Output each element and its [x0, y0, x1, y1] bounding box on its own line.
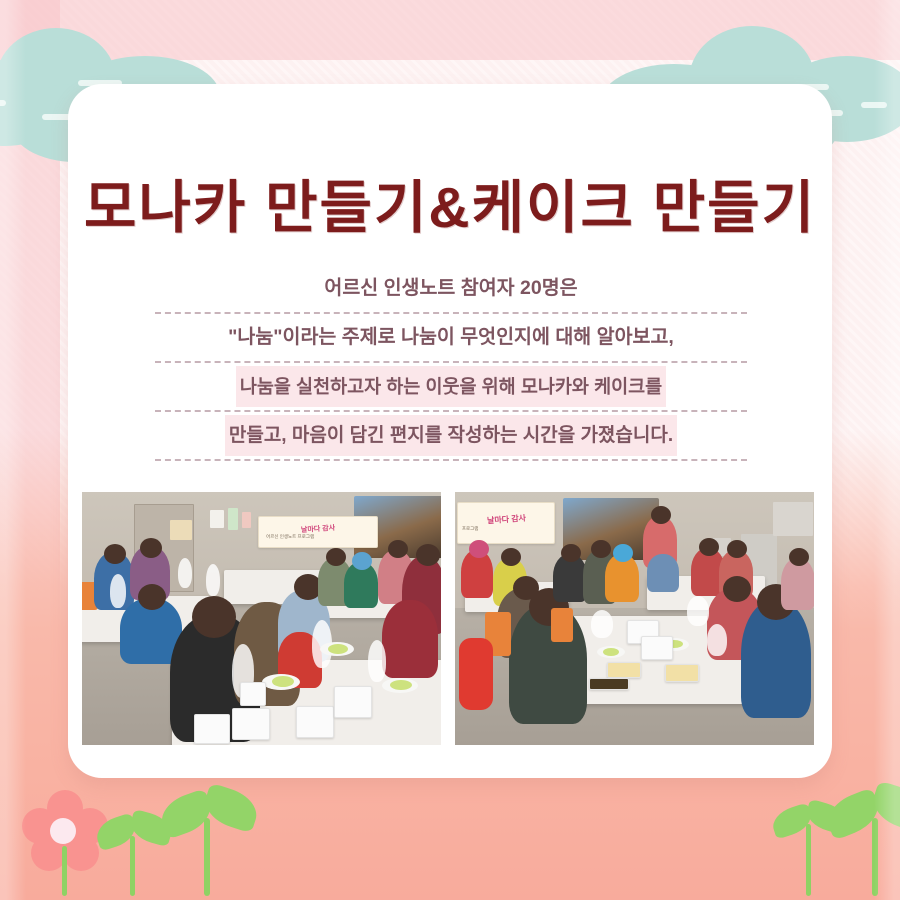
- photo-gallery: 날마다 감사 어르신 인생노트 프로그램: [82, 492, 819, 745]
- divider-1: [155, 312, 747, 314]
- photo-right-banner-title: 날마다 감사: [486, 513, 526, 527]
- photo-left: 날마다 감사 어르신 인생노트 프로그램: [82, 492, 441, 745]
- body-text-block: 어르신 인생노트 참여자 20명은 "나눔"이라는 주제로 나눔이 무엇인지에 …: [155, 268, 747, 464]
- body-line-4-text: 만들고, 마음이 담긴 편지를 작성하는 시간을 가졌습니다.: [225, 415, 677, 456]
- body-line-1-text: 어르신 인생노트 참여자 20명은: [320, 268, 581, 309]
- divider-2: [155, 361, 747, 363]
- sprout-icon-4: [826, 788, 900, 896]
- photo-right: 날마다 감사 프로그램: [455, 492, 814, 745]
- page-title: 모나카 만들기&케이크 만들기: [0, 162, 900, 244]
- body-line-3-text: 나눔을 실천하고자 하는 이웃을 위해 모나카와 케이크를: [236, 366, 666, 407]
- divider-3: [155, 410, 747, 412]
- photo-right-banner-sub: 프로그램: [462, 526, 479, 532]
- body-line-1: 어르신 인생노트 참여자 20명은: [155, 268, 747, 309]
- body-line-4: 만들고, 마음이 담긴 편지를 작성하는 시간을 가졌습니다.: [155, 415, 747, 456]
- divider-4: [155, 459, 747, 461]
- body-line-2: "나눔"이라는 주제로 나눔이 무엇인지에 대해 알아보고,: [155, 317, 747, 358]
- body-line-3: 나눔을 실천하고자 하는 이웃을 위해 모나카와 케이크를: [155, 366, 747, 407]
- sprout-icon-2: [160, 790, 256, 896]
- photo-left-scene: 날마다 감사 어르신 인생노트 프로그램: [82, 492, 441, 745]
- poster-canvas: 모나카 만들기&케이크 만들기 어르신 인생노트 참여자 20명은 "나눔"이라…: [0, 0, 900, 900]
- photo-left-banner-sub: 어르신 인생노트 프로그램: [266, 534, 314, 540]
- body-line-2-text: "나눔"이라는 주제로 나눔이 무엇인지에 대해 알아보고,: [224, 317, 678, 358]
- photo-right-scene: 날마다 감사 프로그램: [455, 492, 814, 745]
